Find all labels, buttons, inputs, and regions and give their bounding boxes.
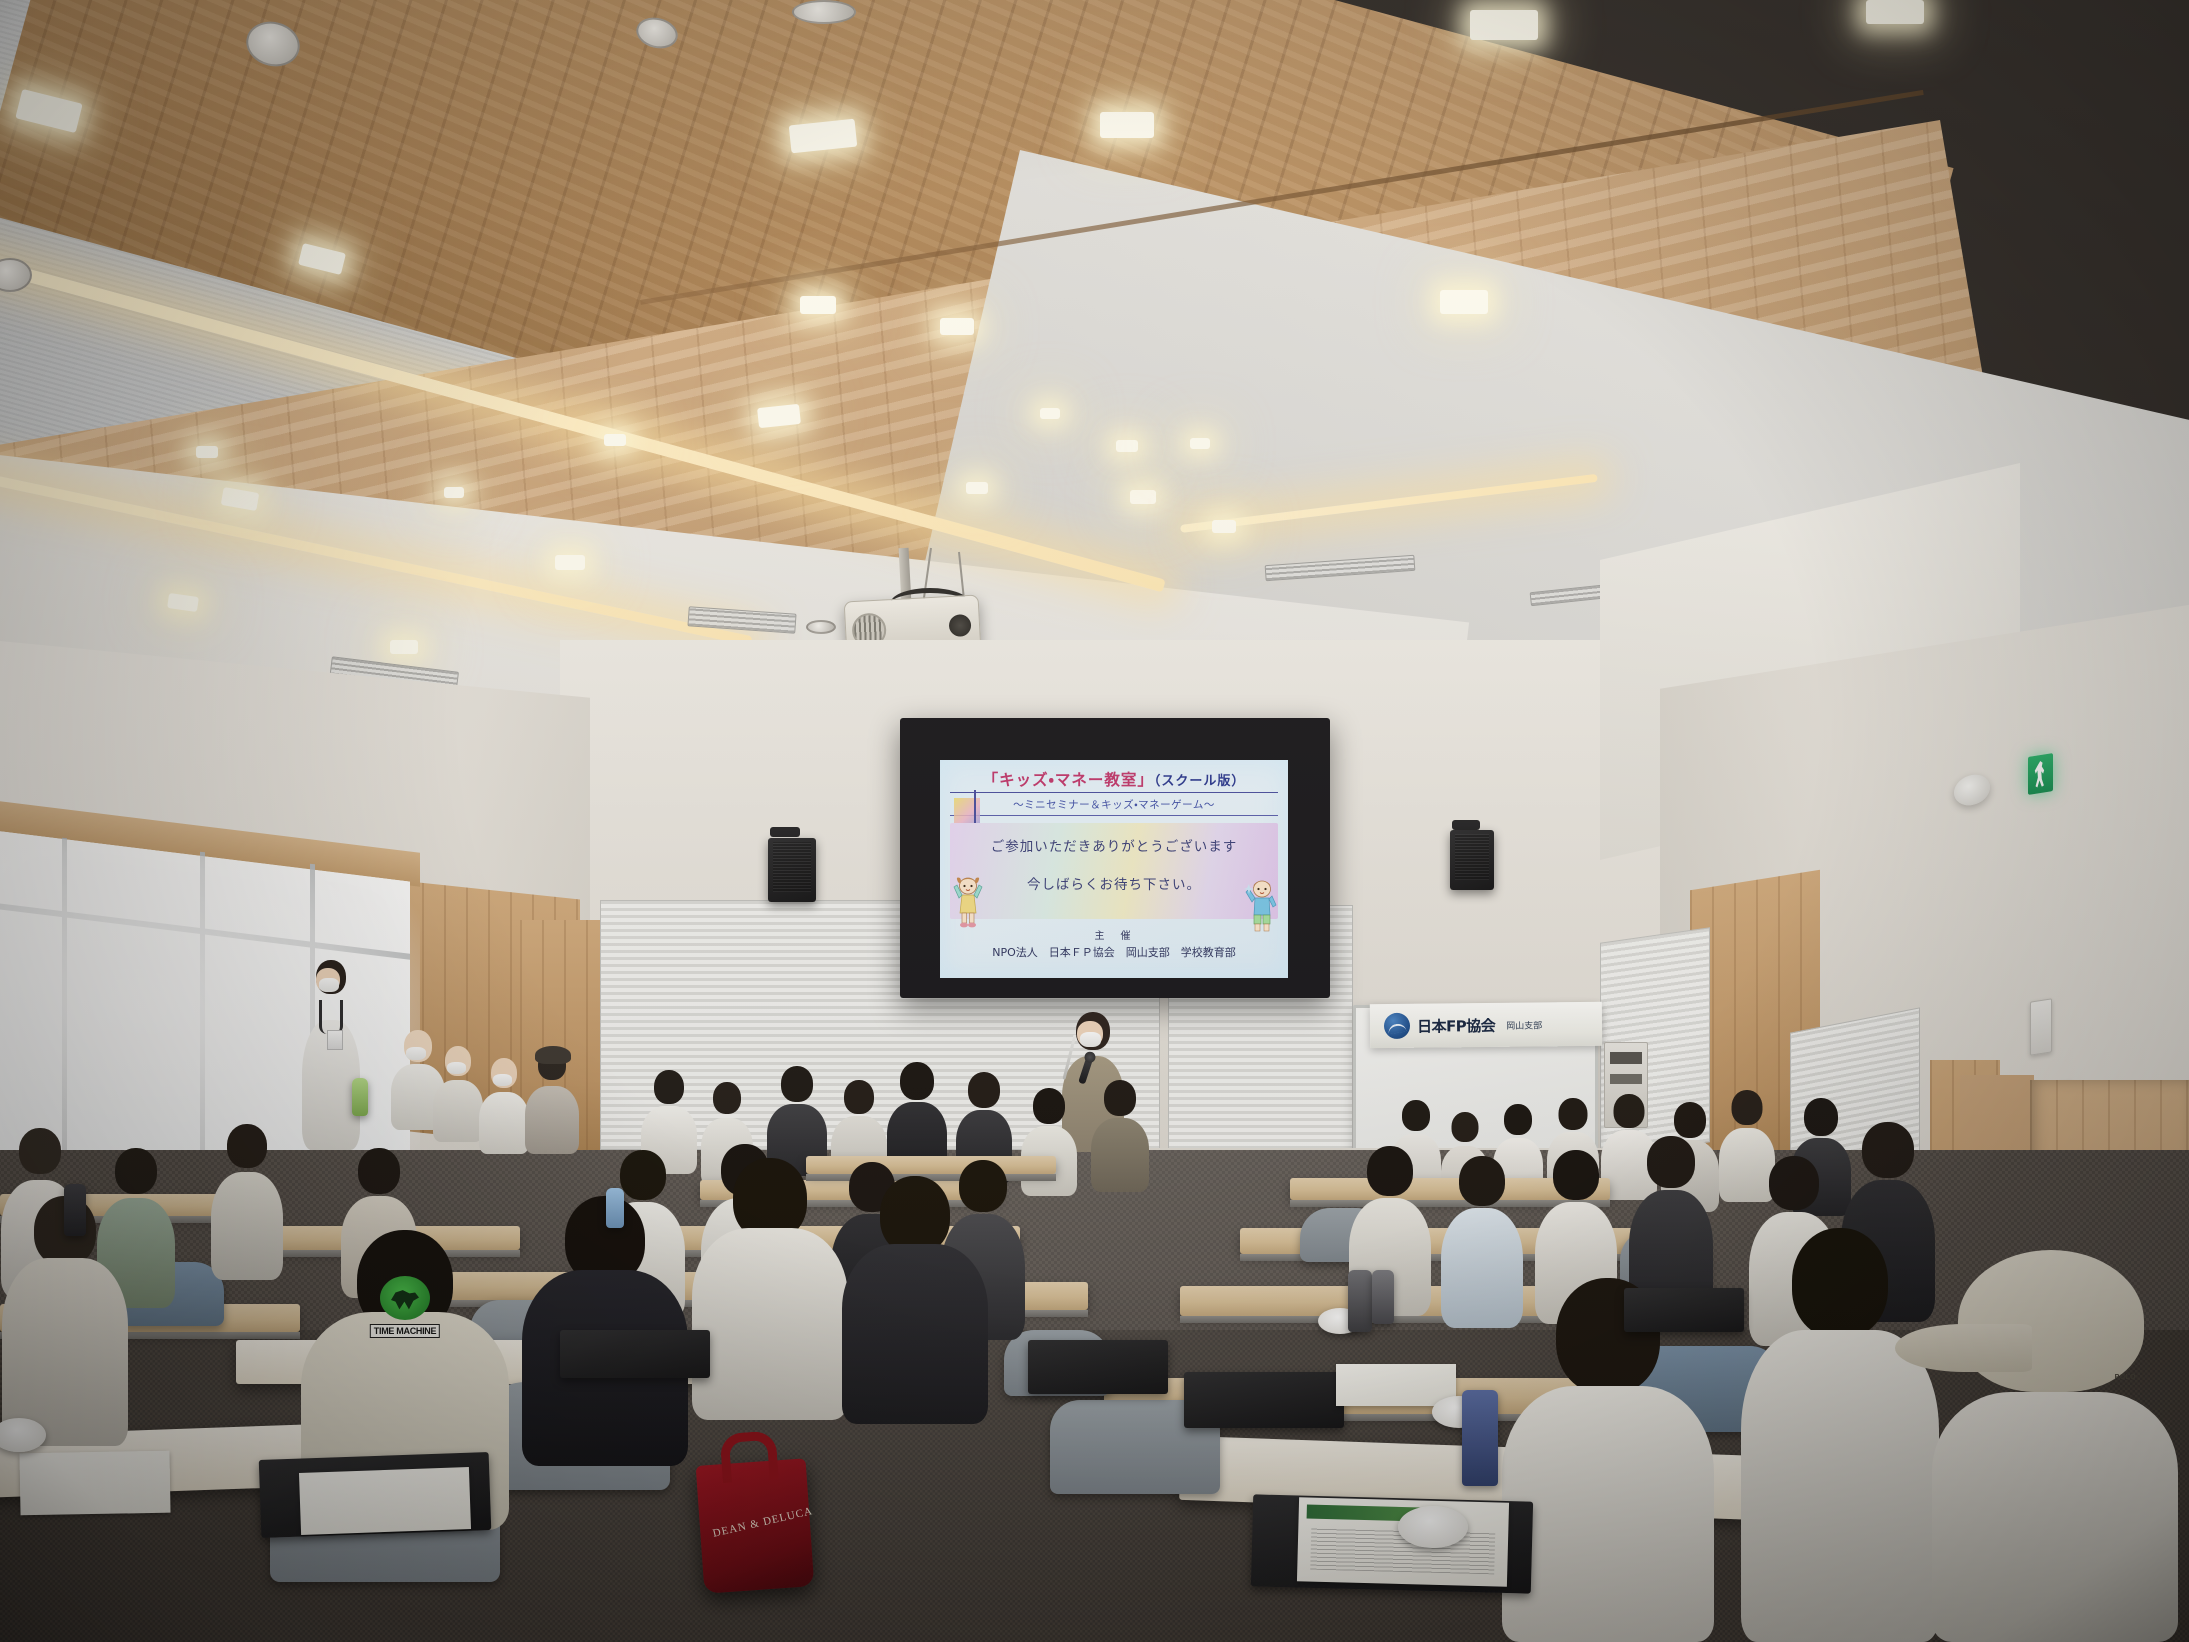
room-photo-scene: 「キッズ・マネー教室」（スクール版） ～ミニセミナー＆キッズ・マネーゲーム～ — [0, 0, 2189, 1642]
projector-lens — [948, 614, 971, 637]
downlight — [1116, 440, 1138, 452]
handout-newsletter — [1297, 1497, 1509, 1586]
slide-message-box: ご参加いただきありがとうございます 今しばらくお待ち下さい。 — [950, 823, 1278, 919]
slide-decor-square — [954, 798, 980, 824]
baseball-cap: POLO — [1958, 1250, 2144, 1392]
downlight — [1100, 112, 1154, 138]
tshirt-graphic: TIME MACHINE — [374, 1276, 436, 1338]
fp-association-banner: 日本FP協会 岡山支部 — [1370, 1002, 1602, 1048]
downlight — [444, 487, 464, 498]
tote-bag — [560, 1330, 710, 1378]
dinosaur-icon — [380, 1276, 430, 1320]
downlight — [1190, 438, 1210, 449]
emergency-exit-icon — [2028, 753, 2053, 795]
audience-person — [1090, 1080, 1150, 1192]
slide-title: 「キッズ・マネー教室」（スクール版） — [950, 768, 1278, 793]
slide-message-line1: ご参加いただきありがとうございます — [956, 835, 1272, 855]
paper-bowl — [1398, 1506, 1468, 1548]
wall-speaker-right — [1450, 830, 1494, 890]
thermos-bottle — [1348, 1270, 1372, 1332]
tote-bag — [1184, 1372, 1344, 1428]
kid-girl-illustration — [949, 873, 987, 931]
slide-host-organization: NPO法人 日本ＦＰ協会 岡山支部 学校教育部 — [950, 944, 1278, 960]
foreground-person — [690, 1158, 850, 1420]
downlight — [1040, 408, 1060, 419]
slide-message-line2: 今しばらくお待ち下さい。 — [956, 873, 1272, 893]
worksheet — [299, 1467, 471, 1535]
red-tote-text: DEAN & DELUCA — [712, 1508, 802, 1540]
foreground-person-right — [1740, 1228, 1940, 1642]
downlight — [800, 296, 836, 314]
tote-bag — [1624, 1288, 1744, 1332]
av-rack-slot — [1610, 1052, 1642, 1064]
slide-host-label: 主 催 — [950, 927, 1278, 942]
av-rack-slot — [1610, 1074, 1642, 1084]
fp-wave-logo-icon — [1384, 1013, 1410, 1039]
downlight — [390, 640, 418, 654]
foreground-child-polo-cap: POLO — [1930, 1250, 2180, 1642]
audience-person — [432, 1046, 484, 1142]
audience-person-with-hat — [524, 1050, 580, 1154]
downlight — [940, 318, 974, 335]
downlight — [1866, 0, 1924, 24]
banner-org-name: 日本FP協会 — [1417, 1014, 1495, 1036]
worksheet — [19, 1451, 170, 1516]
drink-bottle — [352, 1078, 368, 1116]
banner-branch-name: 岡山支部 — [1506, 1018, 1542, 1031]
downlight — [1212, 520, 1236, 533]
downlight — [1130, 490, 1156, 504]
downlight — [1440, 290, 1488, 314]
tote-bag — [1028, 1340, 1168, 1394]
slide-title-main: 「キッズ・マネー教室」 — [983, 771, 1154, 789]
foreground-child-right — [1500, 1278, 1715, 1642]
water-bottle — [606, 1188, 624, 1228]
kid-boy-illustration — [1242, 875, 1280, 933]
staff-lanyard-badge — [319, 1000, 343, 1034]
window-mullion — [62, 838, 67, 1169]
staff-face-mask — [319, 978, 339, 992]
downlight — [196, 446, 218, 458]
tshirt-text: TIME MACHINE — [370, 1324, 440, 1338]
thermos-bottle — [1372, 1270, 1394, 1324]
red-tote-bag: DEAN & DELUCA — [696, 1458, 815, 1593]
window-mullion — [200, 852, 205, 1173]
foreground-person — [840, 1176, 990, 1424]
audience-person — [478, 1058, 530, 1154]
downlight — [1470, 10, 1538, 40]
slide-title-suffix: （スクール版） — [1154, 774, 1246, 789]
wall-speaker-left — [768, 838, 816, 902]
downlight — [604, 434, 626, 446]
ceiling-speaker-recessed — [806, 620, 836, 634]
water-bottle — [1462, 1390, 1498, 1486]
speaker-bracket-left — [770, 827, 800, 837]
audience-person — [210, 1124, 284, 1280]
staff-member-standing — [300, 960, 362, 1150]
presenter-face-mask — [1080, 1032, 1101, 1047]
ceiling-vent-round — [792, 0, 856, 24]
downlight — [555, 555, 585, 570]
thermos-bottle — [64, 1184, 86, 1236]
slide-subtitle: ～ミニセミナー＆キッズ・マネーゲーム～ — [950, 797, 1278, 816]
speaker-bracket-right — [1452, 820, 1480, 830]
downlight — [966, 482, 988, 494]
cap-text: POLO — [2115, 1374, 2136, 1381]
worksheet — [1336, 1364, 1456, 1406]
light-switch-panel[interactable] — [2030, 998, 2052, 1055]
projection-screen: 「キッズ・マネー教室」（スクール版） ～ミニセミナー＆キッズ・マネーゲーム～ — [940, 760, 1288, 978]
